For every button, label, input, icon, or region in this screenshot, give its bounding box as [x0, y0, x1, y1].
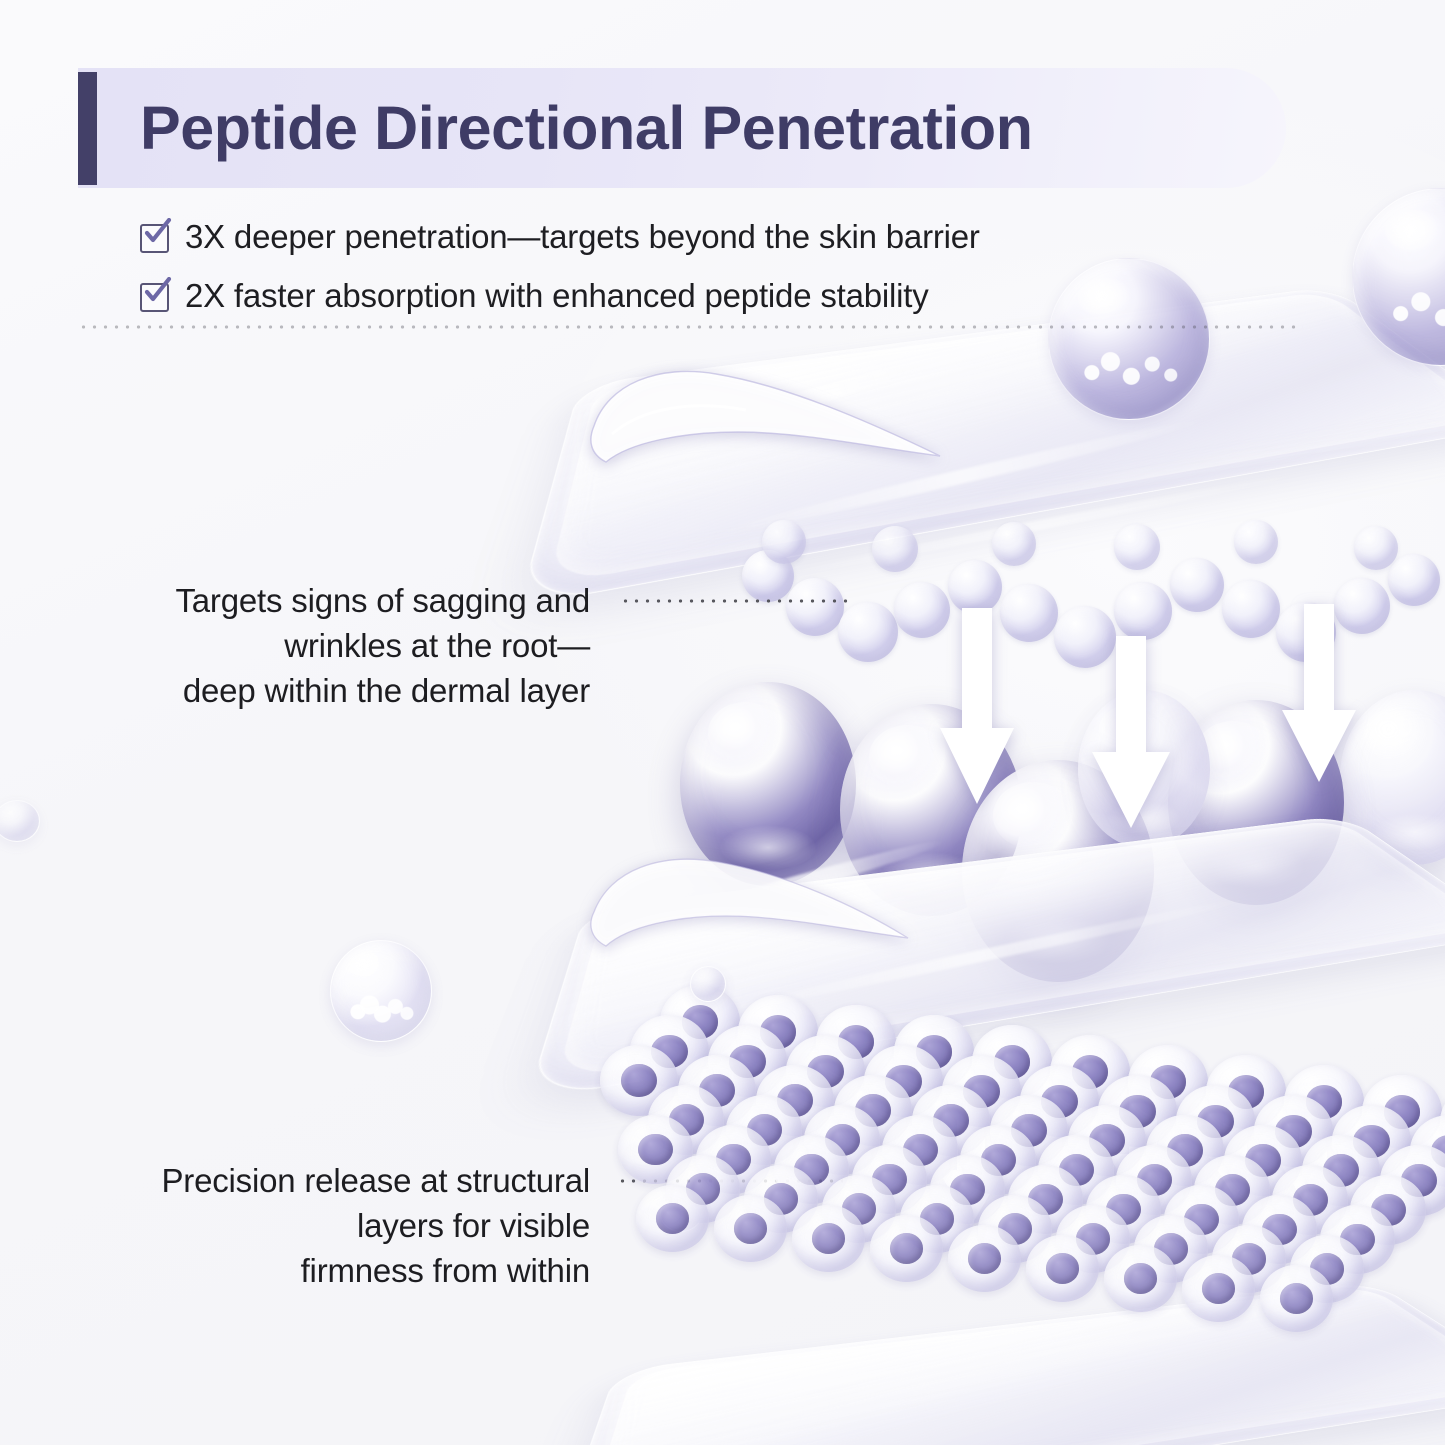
callout-leader-upper [620, 599, 852, 603]
benefit-text: 3X deeper penetration—targets beyond the… [185, 218, 980, 256]
page-title: Peptide Directional Penetration [140, 68, 1033, 188]
benefit-text: 2X faster absorption with enhanced pepti… [185, 277, 929, 315]
checkbox-checked-icon [140, 281, 171, 312]
benefits-list: 3X deeper penetration—targets beyond the… [140, 212, 980, 330]
title-accent-bar [78, 72, 97, 185]
infographic-canvas: Peptide Directional Penetration 3X deepe… [0, 0, 1445, 1445]
callout-lower: Precision release at structural layers f… [90, 1159, 590, 1294]
callout-upper: Targets signs of sagging and wrinkles at… [110, 579, 590, 714]
list-item: 3X deeper penetration—targets beyond the… [140, 212, 980, 262]
checkbox-checked-icon [140, 222, 171, 253]
list-item: 2X faster absorption with enhanced pepti… [140, 271, 980, 321]
callout-leader-lower [617, 1179, 843, 1183]
